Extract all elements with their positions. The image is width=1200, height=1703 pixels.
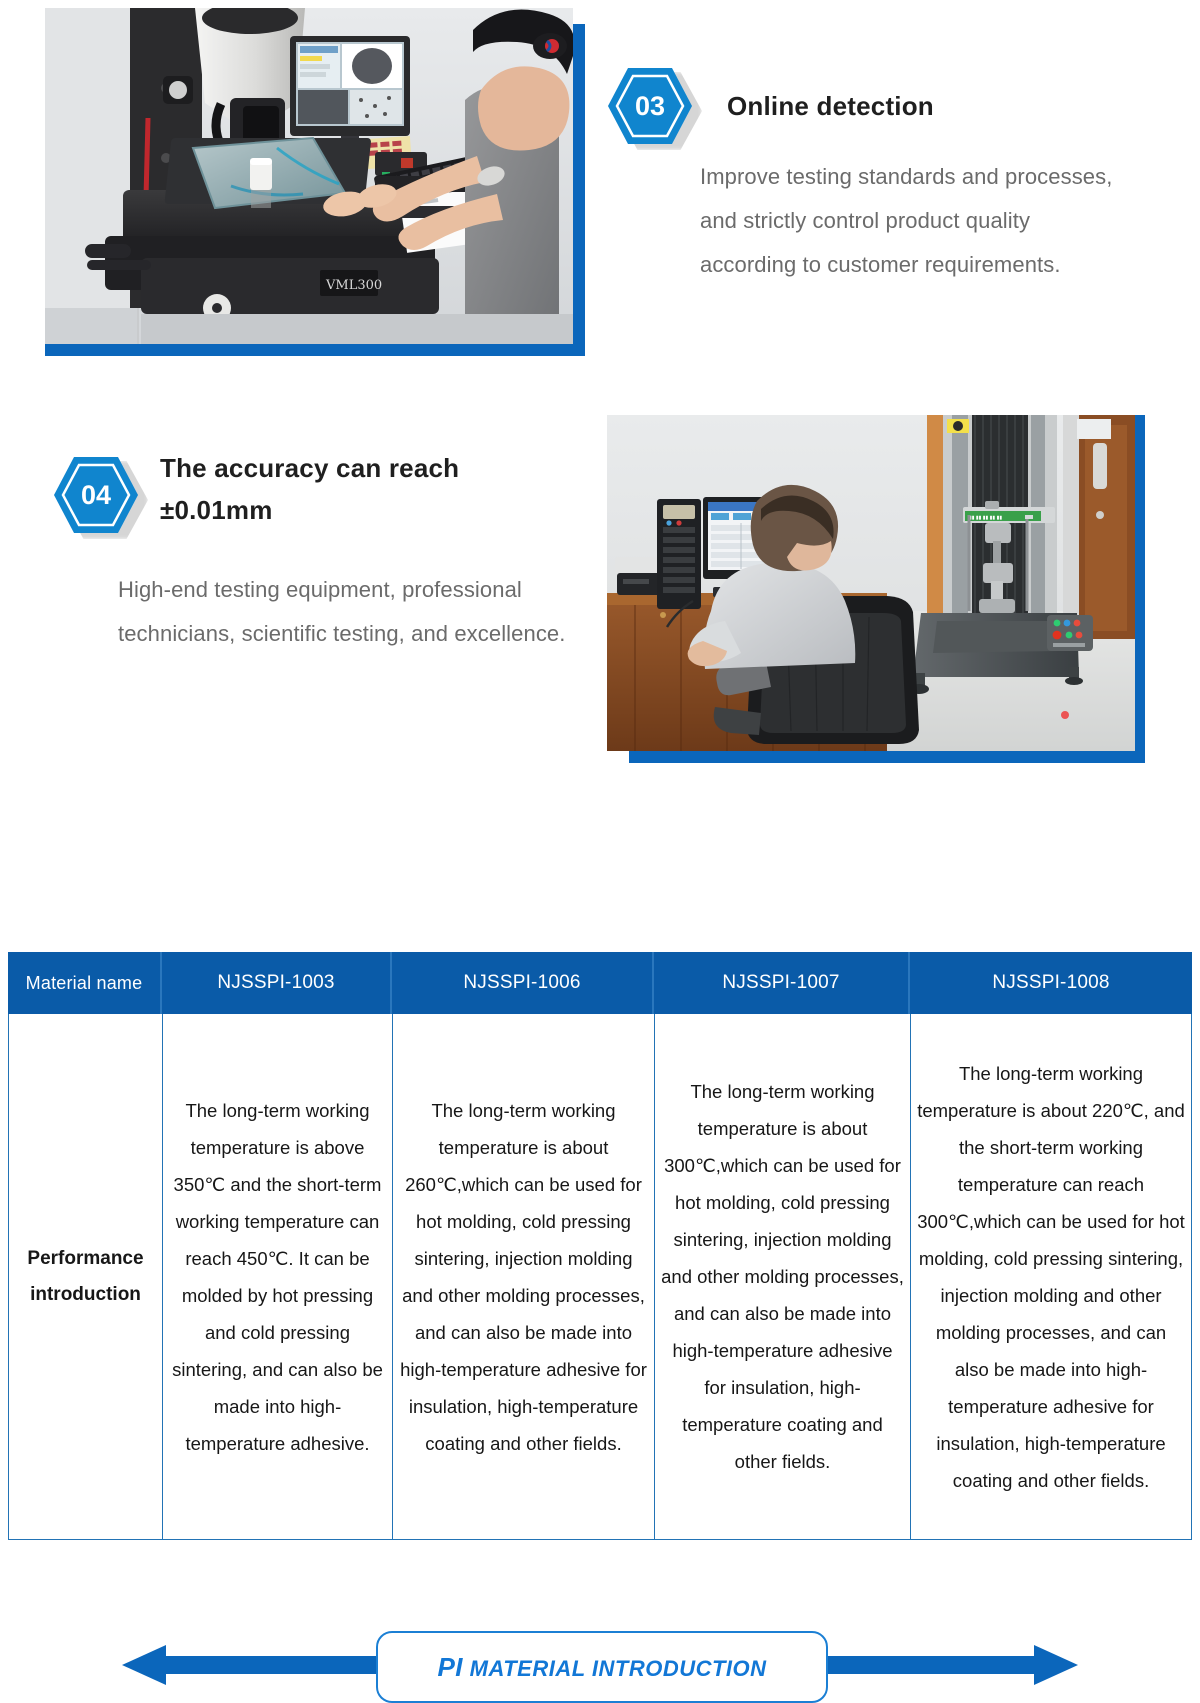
- photo-frame-accent-bottom: [629, 751, 1145, 763]
- svg-text:VML300: VML300: [325, 278, 382, 293]
- arrow-right-icon: [1034, 1645, 1078, 1685]
- table-header-njsspi-1008: NJSSPI-1008: [910, 952, 1192, 1014]
- table-row-label: Performance introduction: [8, 1014, 162, 1540]
- table-header-njsspi-1003: NJSSPI-1003: [162, 952, 392, 1014]
- svg-text:▮▮ ▮▮ ▮▮ ▮▮ ▮▮: ▮▮ ▮▮ ▮▮ ▮▮ ▮▮: [969, 515, 1002, 521]
- table-cell-njsspi-1006: The long-term working temperature is abo…: [392, 1014, 654, 1540]
- table-cell-njsspi-1008: The long-term working temperature is abo…: [910, 1014, 1192, 1540]
- table-header-njsspi-1006: NJSSPI-1006: [392, 952, 654, 1014]
- section-banner: PI MATERIAL INTRODUCTION: [0, 805, 1200, 925]
- table-row-label-text: Performance introduction: [15, 1241, 156, 1313]
- table-cell-text: The long-term working temperature is abo…: [661, 1073, 904, 1480]
- photo-block-accuracy: ▮▮ ▮▮ ▮▮ ▮▮ ▮▮: [607, 415, 1145, 763]
- badge-03: 03: [606, 66, 702, 152]
- badge-04: 04: [52, 455, 148, 541]
- table-cell-text: The long-term working temperature is abo…: [917, 1055, 1185, 1499]
- table-header-row: Material name NJSSPI-1003 NJSSPI-1006 NJ…: [8, 952, 1192, 1014]
- pi-material-table: Material name NJSSPI-1003 NJSSPI-1006 NJ…: [8, 952, 1192, 1540]
- banner-title-rest: MATERIAL INTRODUCTION: [463, 1656, 767, 1681]
- table-cell-text: The long-term working temperature is abo…: [169, 1092, 386, 1462]
- photo-frame-accent-bottom: [45, 344, 585, 356]
- table-cell-text: The long-term working temperature is abo…: [399, 1092, 648, 1462]
- table-cell-njsspi-1003: The long-term working temperature is abo…: [162, 1014, 392, 1540]
- banner-title-lead: PI: [437, 1652, 463, 1682]
- photo-accuracy-lab: ▮▮ ▮▮ ▮▮ ▮▮ ▮▮: [607, 415, 1135, 751]
- photo-illustration-measuring-machine: VML300: [45, 8, 573, 344]
- photo-block-online-detection: VML300: [45, 8, 585, 356]
- table-header-njsspi-1007: NJSSPI-1007: [654, 952, 910, 1014]
- badge-number: 04: [52, 455, 140, 535]
- table-cell-njsspi-1007: The long-term working temperature is abo…: [654, 1014, 910, 1540]
- banner-pill: PI MATERIAL INTRODUCTION: [376, 1631, 828, 1703]
- banner-title: PI MATERIAL INTRODUCTION: [437, 1652, 766, 1683]
- feature-title-03: Online detection: [727, 85, 1147, 127]
- photo-frame-accent-right: [573, 24, 585, 356]
- feature-body-03: Improve testing standards and processes,…: [700, 155, 1125, 287]
- photo-illustration-tensile-tester: ▮▮ ▮▮ ▮▮ ▮▮ ▮▮: [607, 415, 1135, 751]
- badge-number: 03: [606, 66, 694, 146]
- feature-body-04: High-end testing equipment, professional…: [118, 568, 588, 656]
- feature-title-04: The accuracy can reach ±0.01mm: [160, 447, 540, 531]
- photo-online-detection: VML300: [45, 8, 573, 344]
- table-row: Performance introduction The long-term w…: [8, 1014, 1192, 1540]
- table-header-material-name: Material name: [8, 952, 162, 1014]
